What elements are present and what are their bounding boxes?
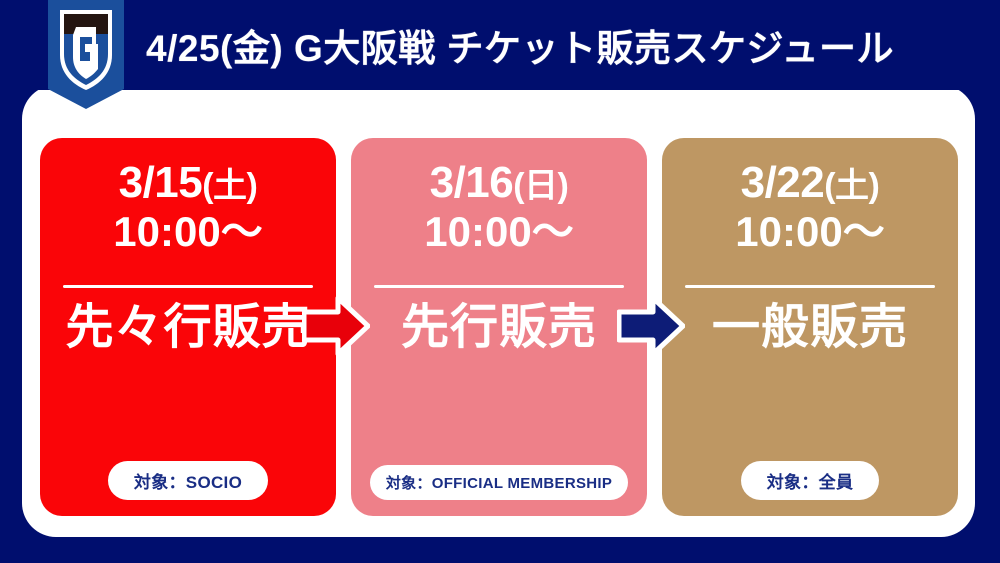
arrow-right-icon (302, 296, 370, 356)
card-date-value: 3/22 (741, 158, 825, 207)
card-date-value: 3/15 (119, 158, 203, 207)
card-time: 10:00〜 (113, 209, 262, 255)
card-sale-label: 先行販売 (401, 302, 597, 355)
card-divider (685, 285, 935, 288)
card-audience-badge: 対象：OFFICIAL MEMBERSHIP (370, 465, 628, 500)
ticket-schedule-poster: 4/25(金) G大阪戦 チケット販売スケジュール 3/15(土) 10:00〜… (0, 0, 1000, 563)
card-weekday: (土) (824, 167, 879, 205)
card-audience-badge: 対象：SOCIO (108, 461, 268, 500)
arrow-right-icon (617, 296, 685, 356)
schedule-card-1[interactable]: 3/15(土) 10:00〜 先々行販売 対象：SOCIO (40, 138, 336, 516)
card-date: 3/15(土) (119, 160, 258, 207)
card-divider (374, 285, 624, 288)
card-date: 3/16(日) (430, 160, 569, 207)
card-sale-label: 先々行販売 (65, 302, 310, 355)
card-weekday: (日) (513, 167, 568, 205)
page-title: 4/25(金) G大阪戦 チケット販売スケジュール (106, 18, 894, 72)
card-date: 3/22(土) (741, 160, 880, 207)
card-date-value: 3/16 (430, 158, 514, 207)
schedule-cards: 3/15(土) 10:00〜 先々行販売 対象：SOCIO 3/16(日) 10… (40, 138, 960, 516)
card-sale-label: 一般販売 (712, 302, 908, 355)
card-time: 10:00〜 (424, 209, 573, 255)
header-bar: 4/25(金) G大阪戦 チケット販売スケジュール (0, 0, 1000, 90)
card-audience-badge: 対象：全員 (741, 461, 880, 500)
schedule-card-2[interactable]: 3/16(日) 10:00〜 先行販売 対象：OFFICIAL MEMBERSH… (351, 138, 647, 516)
card-time: 10:00〜 (735, 209, 884, 255)
card-weekday: (土) (202, 167, 257, 205)
gamba-shield-pennant-icon (48, 0, 124, 109)
schedule-card-3[interactable]: 3/22(土) 10:00〜 一般販売 対象：全員 (662, 138, 958, 516)
card-divider (63, 285, 313, 288)
